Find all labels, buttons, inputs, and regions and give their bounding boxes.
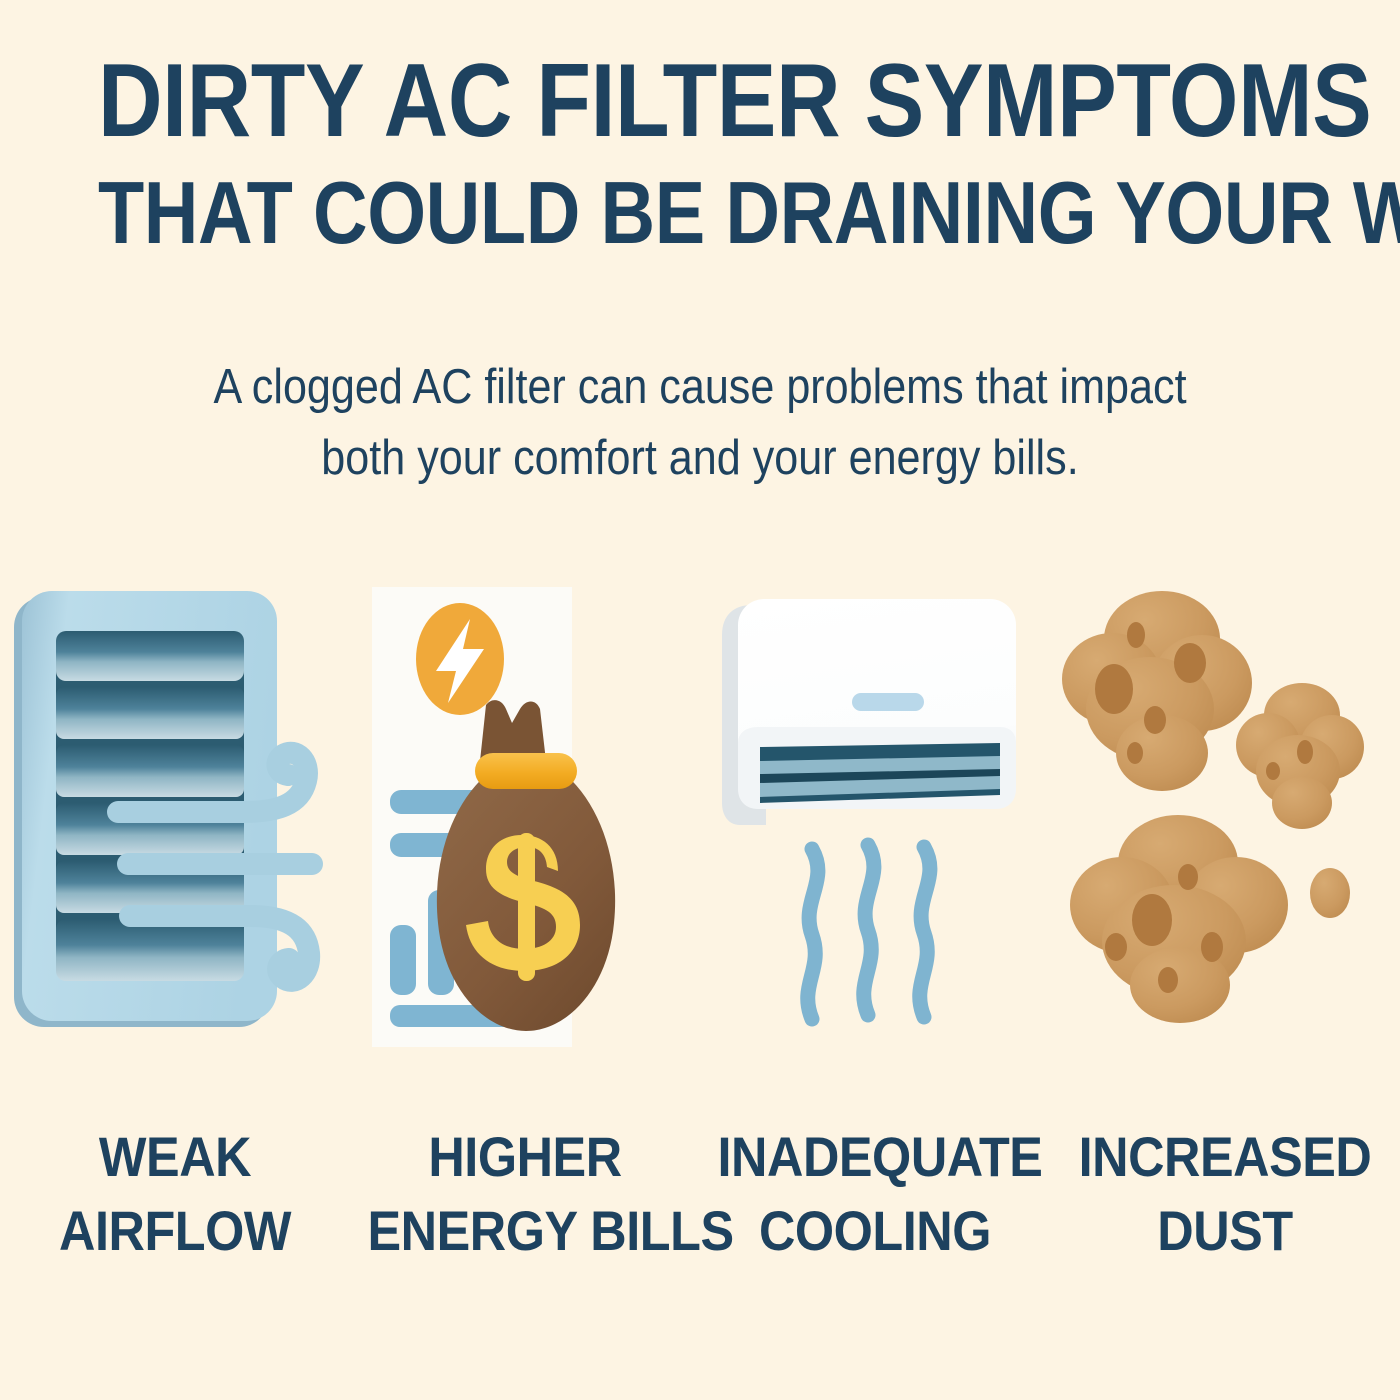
headline-line-1: DIRTY AC FILTER SYMPTOMS	[98, 48, 1302, 154]
ac-wall-unit-icon	[700, 575, 1050, 1075]
caption-higher-energy-bills: HIGHER ENERGY BILLS	[368, 1120, 683, 1268]
caption-increased-dust: INCREASED DUST	[1068, 1120, 1383, 1268]
caption-line-2: ENERGY BILLS	[368, 1194, 683, 1268]
infographic-poster: DIRTY AC FILTER SYMPTOMS THAT COULD BE D…	[0, 0, 1400, 1400]
caption-line-2: COOLING	[718, 1194, 1033, 1268]
symptom-column-increased-dust: INCREASED DUST	[1050, 575, 1400, 1295]
symptom-column-weak-airflow: WEAK AIRFLOW	[0, 575, 350, 1295]
dust-blob-small	[1310, 868, 1350, 918]
ac-filter-airflow-icon	[0, 575, 350, 1075]
caption-line-2: AIRFLOW	[18, 1194, 333, 1268]
caption-line-1: INADEQUATE	[718, 1120, 1033, 1194]
headline-line-2: THAT COULD BE DRAINING YOUR WALLET	[98, 168, 1302, 258]
dust-blob-large-bottom	[1070, 815, 1288, 1023]
energy-bill-money-bag-icon	[350, 575, 700, 1075]
symptom-column-inadequate-cooling: INADEQUATE COOLING	[700, 575, 1050, 1295]
caption-inadequate-cooling: INADEQUATE COOLING	[718, 1120, 1033, 1268]
dust-blob-large-top	[1062, 591, 1252, 791]
caption-weak-airflow: WEAK AIRFLOW	[18, 1120, 333, 1268]
symptom-column-higher-energy-bills: HIGHER ENERGY BILLS	[350, 575, 700, 1295]
dust-clouds-icon	[1050, 575, 1400, 1075]
caption-line-1: HIGHER	[368, 1120, 683, 1194]
ac-vent-louvers	[760, 743, 1000, 803]
ac-display	[852, 693, 924, 711]
symptom-columns: WEAK AIRFLOW	[0, 575, 1400, 1295]
caption-line-1: WEAK	[18, 1120, 333, 1194]
subtitle-text: A clogged AC filter can cause problems t…	[190, 352, 1211, 494]
caption-line-1: INCREASED	[1068, 1120, 1383, 1194]
page-title: DIRTY AC FILTER SYMPTOMS THAT COULD BE D…	[0, 48, 1400, 258]
caption-line-2: DUST	[1068, 1194, 1383, 1268]
airflow-waves	[808, 845, 930, 1019]
